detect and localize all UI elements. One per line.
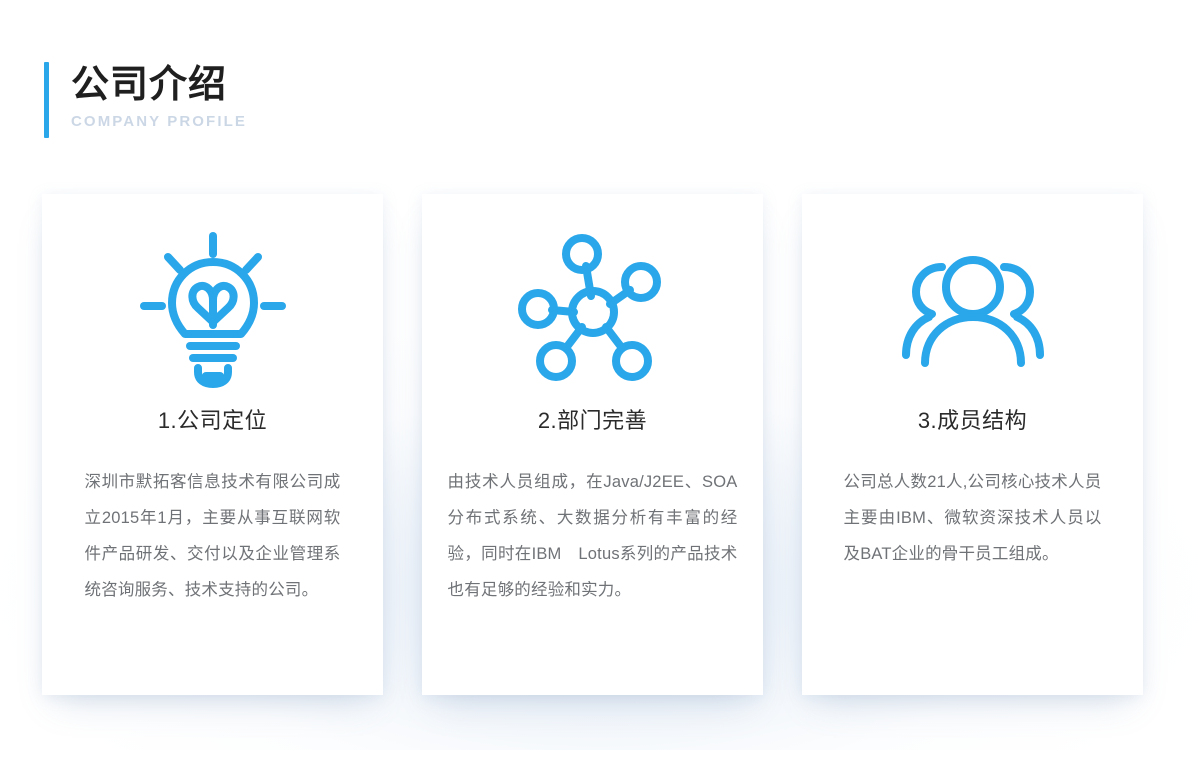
page-subtitle: COMPANY PROFILE xyxy=(71,112,247,132)
profile-card-members[interactable]: 3.成员结构 公司总人数21人,公司核心技术人员主要由IBM、微软资深技术人员以… xyxy=(802,194,1143,695)
people-group-icon xyxy=(898,220,1048,400)
network-hub-icon xyxy=(518,220,668,400)
card-title: 3.成员结构 xyxy=(918,406,1027,436)
profile-card-positioning[interactable]: 1.公司定位 深圳市默拓客信息技术有限公司成立2015年1月，主要从事互联网软件… xyxy=(42,194,383,695)
card-body-text: 深圳市默拓客信息技术有限公司成立2015年1月，主要从事互联网软件产品研发、交付… xyxy=(85,464,341,608)
profile-card-departments[interactable]: 2.部门完善 由技术人员组成，在Java/J2EE、SOA分布式系统、大数据分析… xyxy=(422,194,763,695)
lightbulb-heart-icon xyxy=(138,220,288,400)
card-title: 2.部门完善 xyxy=(538,406,647,436)
company-profile-page: 公司介绍 COMPANY PROFILE xyxy=(0,0,1200,765)
card-body-text: 由技术人员组成，在Java/J2EE、SOA分布式系统、大数据分析有丰富的经验，… xyxy=(448,464,738,608)
header-text-group: 公司介绍 COMPANY PROFILE xyxy=(49,62,247,138)
page-header: 公司介绍 COMPANY PROFILE xyxy=(44,62,247,138)
page-title: 公司介绍 xyxy=(71,62,247,108)
card-row: 1.公司定位 深圳市默拓客信息技术有限公司成立2015年1月，主要从事互联网软件… xyxy=(42,194,1143,695)
card-title: 1.公司定位 xyxy=(158,406,267,436)
card-body-text: 公司总人数21人,公司核心技术人员主要由IBM、微软资深技术人员以及BAT企业的… xyxy=(844,464,1102,572)
